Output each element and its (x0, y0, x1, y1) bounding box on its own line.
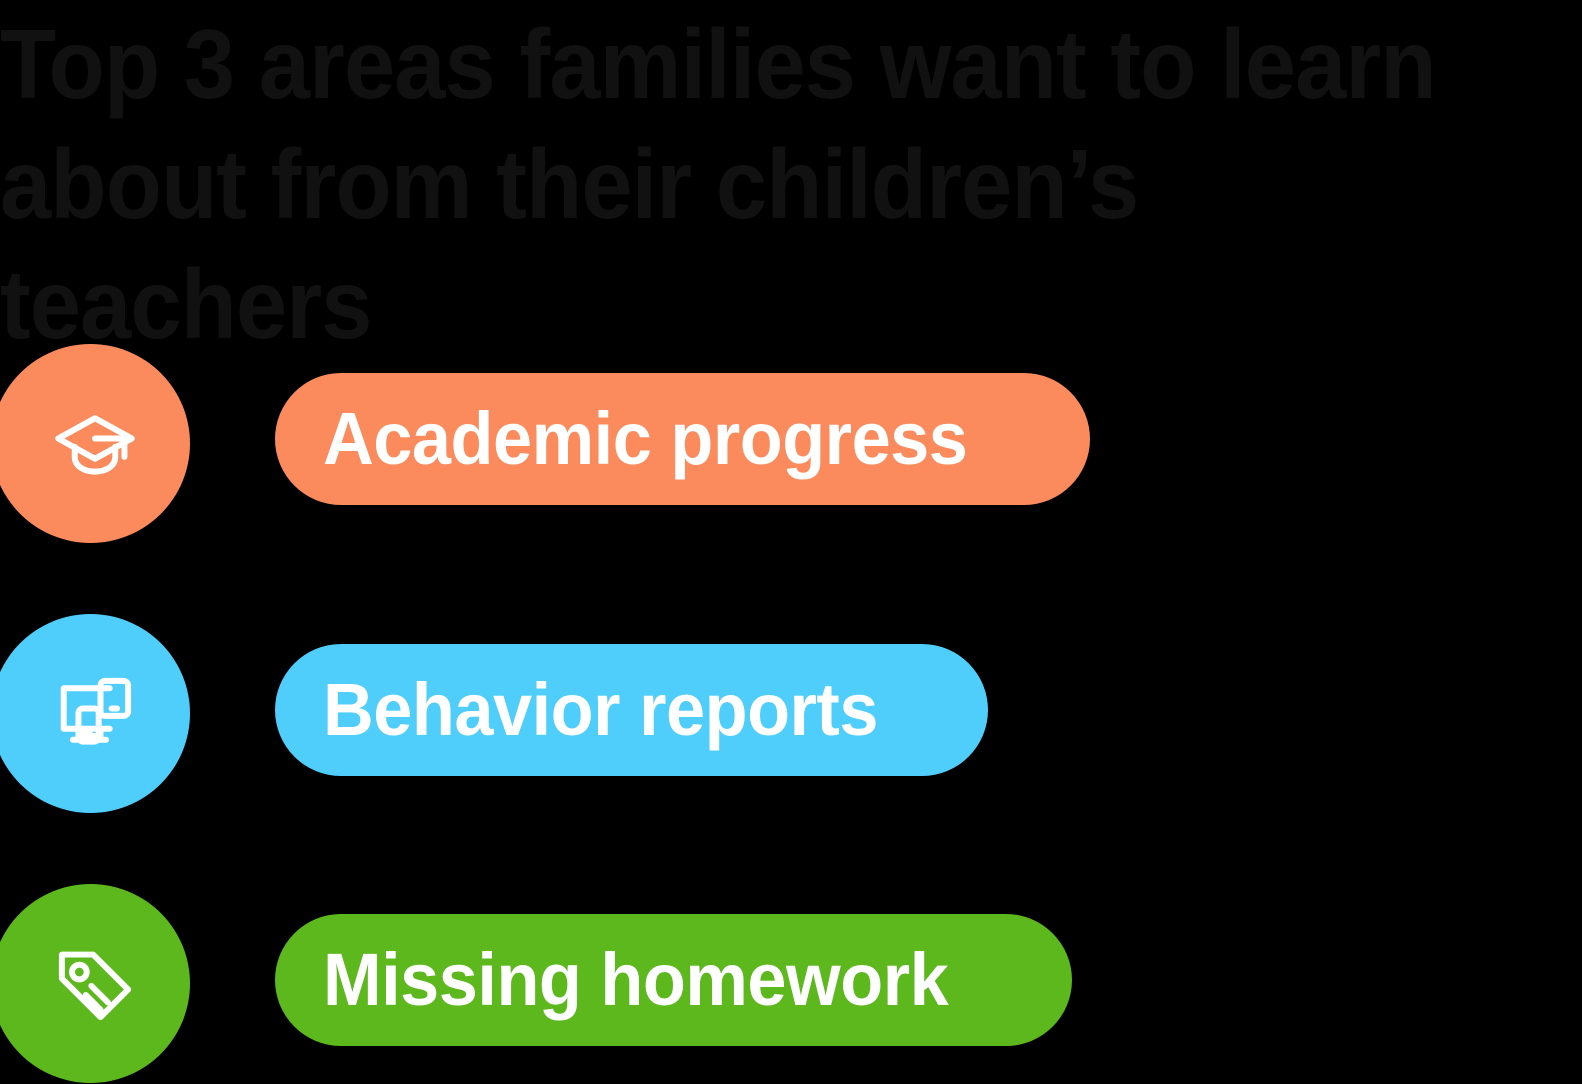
icon-badge-behavior-reports (0, 614, 190, 813)
infographic-canvas: Top 3 areas families want to learn about… (0, 0, 1582, 1080)
pill-label: Behavior reports (323, 673, 878, 747)
list-item: Academic progress (0, 344, 1582, 544)
pill-label: Academic progress (323, 402, 967, 476)
devices-icon (41, 668, 141, 760)
list-item: Behavior reports (0, 614, 1582, 814)
list-item: Missing homework (0, 884, 1582, 1084)
pill-missing-homework[interactable]: Missing homework (275, 914, 1072, 1046)
pill-behavior-reports[interactable]: Behavior reports (275, 644, 988, 776)
tag-icon (41, 938, 141, 1030)
page-title: Top 3 areas families want to learn about… (0, 4, 1487, 364)
pill-academic-progress[interactable]: Academic progress (275, 373, 1090, 505)
icon-badge-missing-homework (0, 884, 190, 1083)
icon-badge-academic-progress (0, 344, 190, 543)
graduation-cap-icon (41, 398, 141, 490)
pill-label: Missing homework (323, 943, 948, 1017)
